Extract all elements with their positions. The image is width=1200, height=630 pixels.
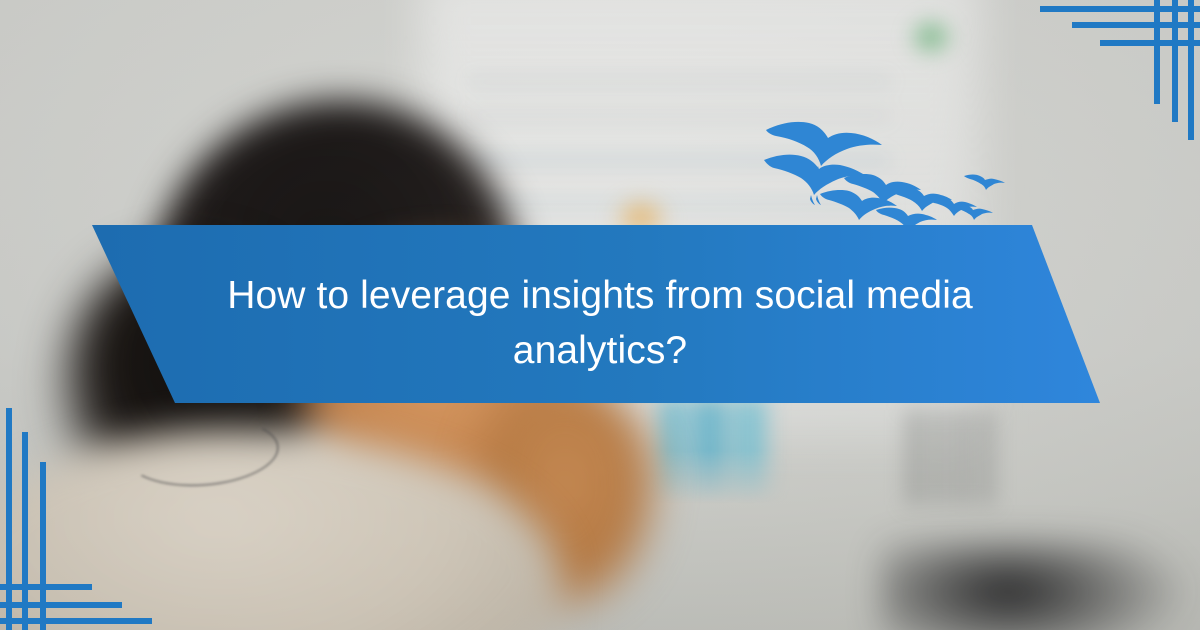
banner-headline: How to leverage insights from social med… (180, 268, 1020, 378)
banner-canvas: How to leverage insights from social med… (0, 0, 1200, 630)
banner-headline-line: analytics? (180, 323, 1020, 378)
banner-headline-line: How to leverage insights from social med… (180, 268, 1020, 323)
